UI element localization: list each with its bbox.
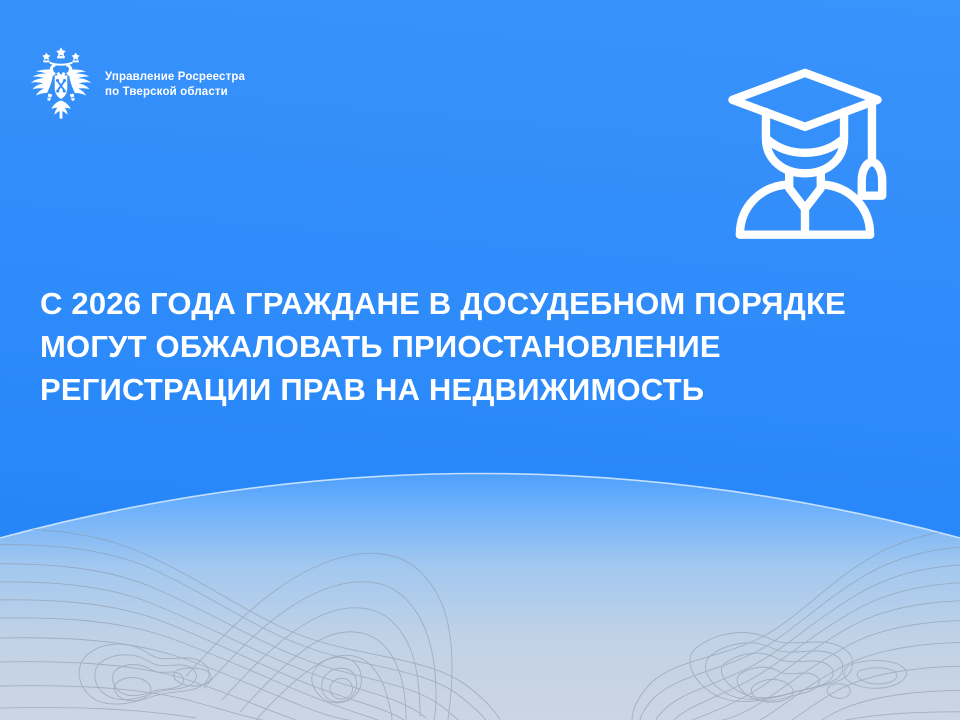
logo-text-block: Управление Росреестра по Тверской област… xyxy=(105,67,245,100)
logo-line-1: Управление Росреестра xyxy=(105,70,245,85)
organization-logo: Управление Росреестра по Тверской област… xyxy=(26,46,245,120)
topographic-contour-graphic xyxy=(0,420,960,720)
poster-canvas: Управление Росреестра по Тверской област… xyxy=(0,0,960,720)
logo-line-2: по Тверской области xyxy=(105,85,245,100)
mortarboard-top xyxy=(732,73,877,127)
headline-line-2: МОГУТ ОБЖАЛОВАТЬ ПРИОСТАНОВЛЕНИЕ xyxy=(40,325,930,368)
headline-line-1: С 2026 ГОДА ГРАЖДАНЕ В ДОСУДЕБНОМ ПОРЯДК… xyxy=(40,282,930,325)
page-title: С 2026 ГОДА ГРАЖДАНЕ В ДОСУДЕБНОМ ПОРЯДК… xyxy=(40,282,930,411)
rosreestr-eagle-emblem-icon xyxy=(26,46,96,120)
footer-arc-region xyxy=(0,420,960,720)
headline-line-3: РЕГИСТРАЦИИ ПРАВ НА НЕДВИЖИМОСТЬ xyxy=(40,368,930,411)
graduate-person-icon xyxy=(712,58,898,244)
